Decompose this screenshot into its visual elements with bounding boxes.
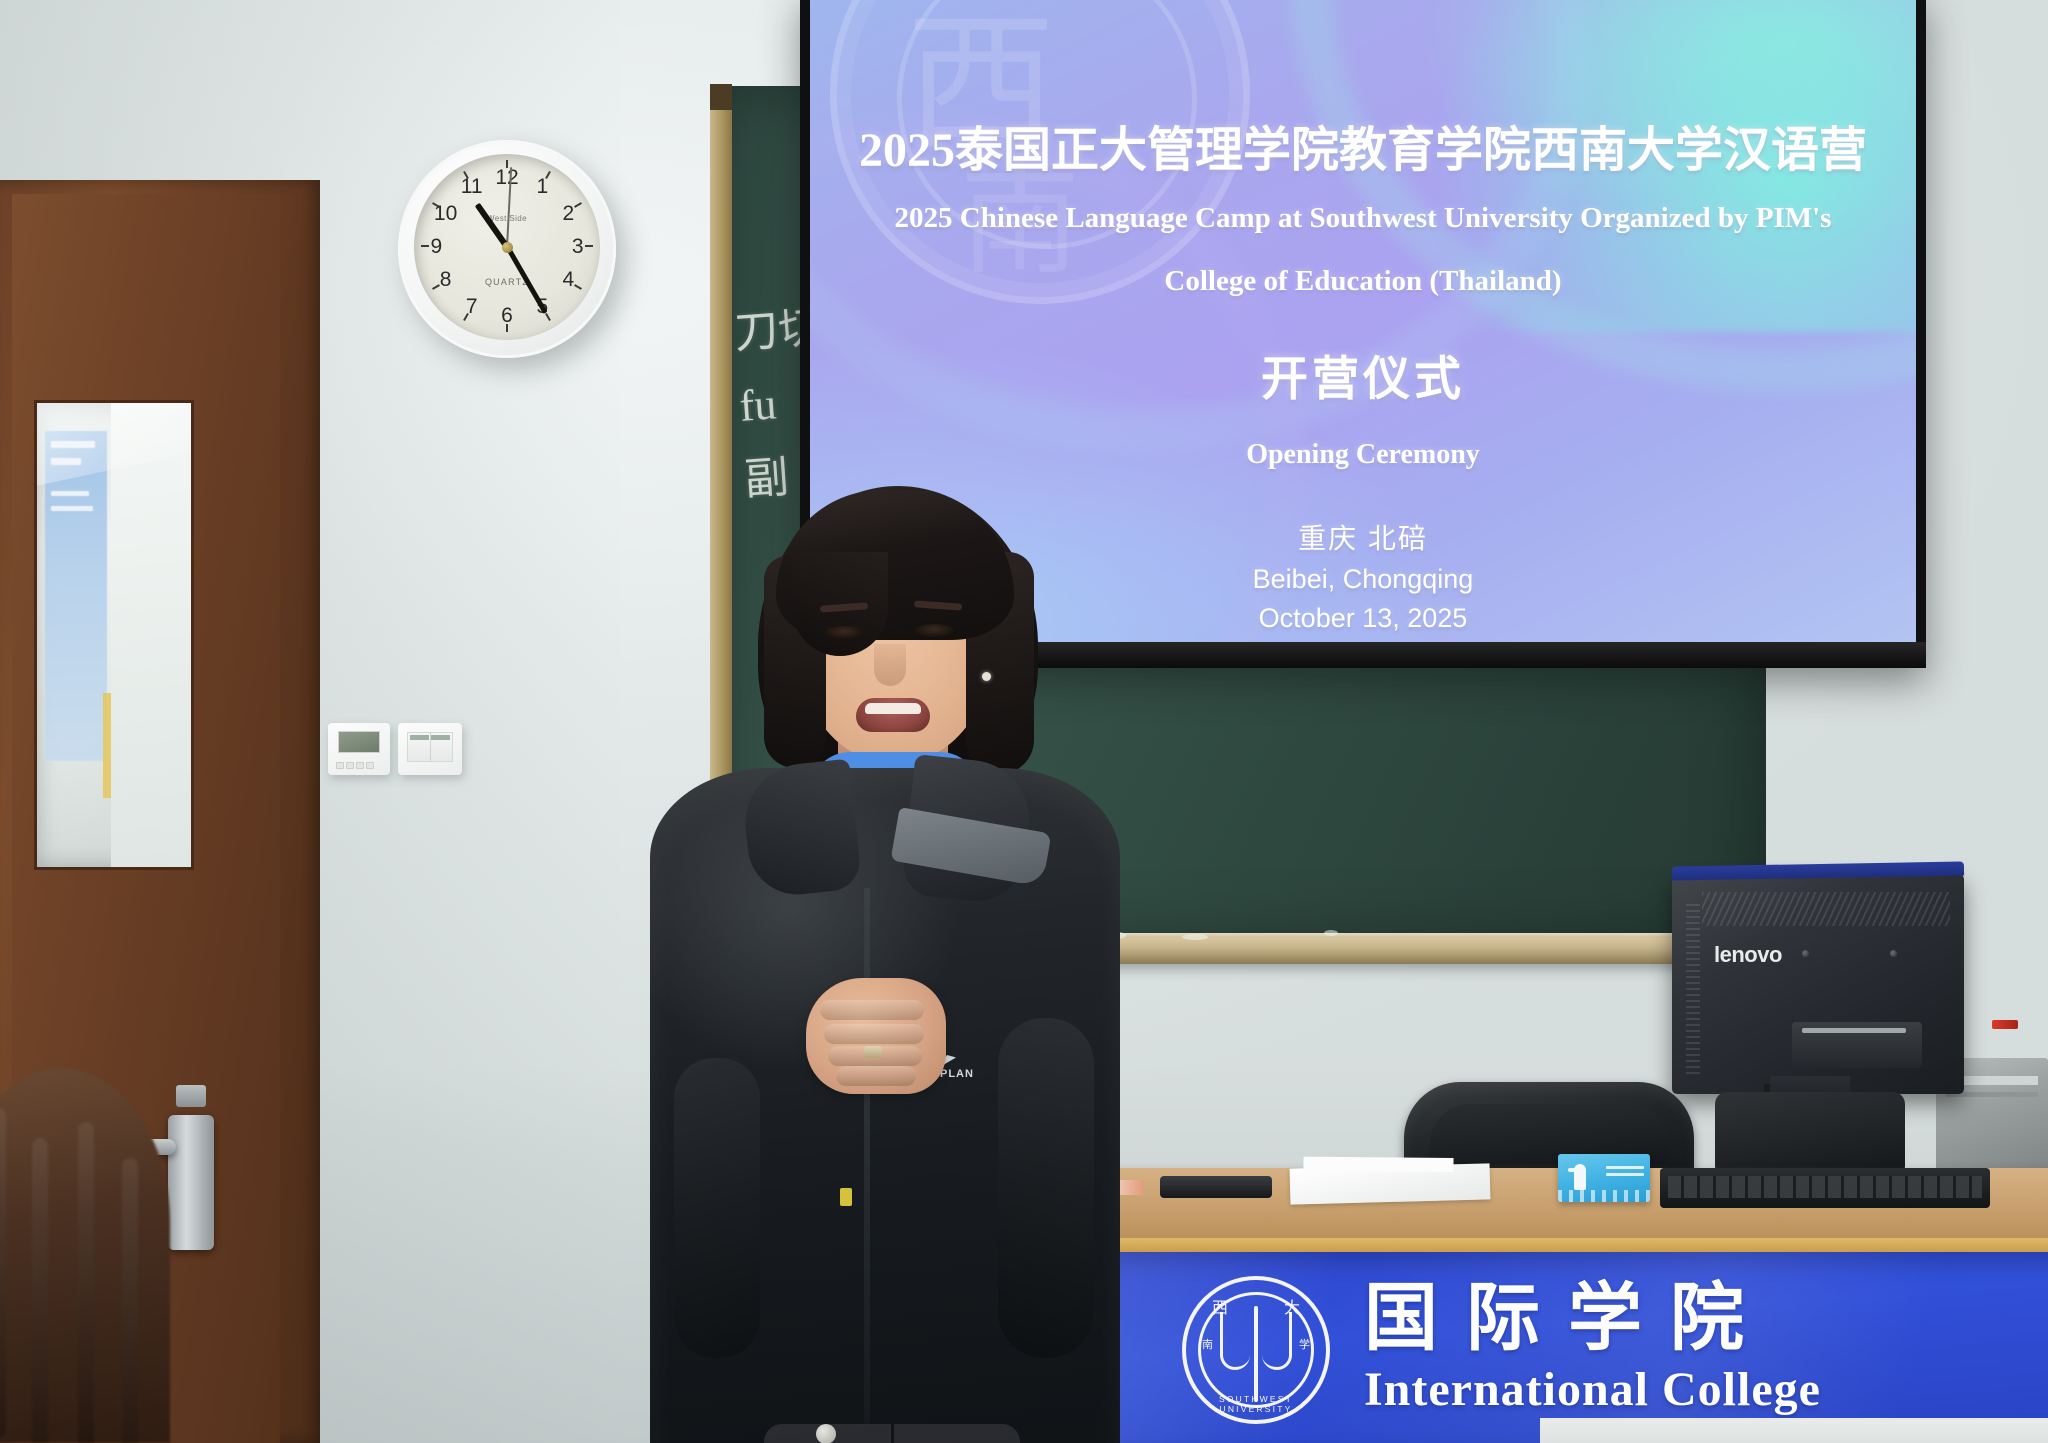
light-switch-panel[interactable] xyxy=(398,723,462,775)
seal-mark-3: 南 xyxy=(1202,1336,1213,1352)
clock-center-pin xyxy=(502,242,513,253)
keyboard-keys[interactable] xyxy=(1668,1176,1982,1198)
classroom-scene: 12 1 2 3 4 5 6 7 8 9 10 11 West Side QUA… xyxy=(0,0,2048,1443)
eye-left xyxy=(824,626,864,639)
door-handle[interactable] xyxy=(168,1115,214,1250)
door-glass-pane xyxy=(34,400,194,870)
computer-monitor: lenovo xyxy=(1672,874,1964,1094)
clasped-hands xyxy=(806,978,946,1094)
monitor-stand-plate xyxy=(1792,1022,1922,1068)
clock-numeral-10: 10 xyxy=(433,204,459,224)
keyboard[interactable] xyxy=(1660,1168,1990,1208)
seal-mark-4: 学 xyxy=(1299,1336,1310,1352)
monitor-screw xyxy=(1890,950,1897,957)
slide-subtitle-english-line1: 2025 Chinese Language Camp at Southwest … xyxy=(844,202,1882,235)
dark-trousers xyxy=(764,1424,1020,1443)
podium-front-shelf xyxy=(1540,1418,2048,1443)
clock-numeral-1: 1 xyxy=(529,177,555,197)
clock-numeral-8: 8 xyxy=(433,270,459,290)
clock-numeral-4: 4 xyxy=(555,270,581,290)
slide-subtitle-english-line2: College of Education (Thailand) xyxy=(844,265,1882,298)
switch-divider xyxy=(430,732,431,762)
monitor-screw xyxy=(1802,950,1809,957)
clock-numeral-3: 3 xyxy=(565,237,591,257)
slide-title-chinese: 2025泰国正大管理学院教育学院西南大学汉语营 xyxy=(844,110,1882,180)
jacket-fold xyxy=(674,1058,760,1358)
glass-reflection-wall xyxy=(111,403,191,867)
clock-numeral-7: 7 xyxy=(459,297,485,317)
seal-arc-text: SOUTHWEST UNIVERSITY xyxy=(1186,1394,1326,1414)
clock-numeral-11: 11 xyxy=(459,177,485,197)
chalk-dust xyxy=(1182,934,1208,940)
slide-section-english: Opening Ceremony xyxy=(844,439,1882,471)
door-lock-plate xyxy=(176,1085,206,1107)
wall-clock: 12 1 2 3 4 5 6 7 8 9 10 11 West Side QUA… xyxy=(398,140,616,358)
hair-fringe xyxy=(776,490,1014,640)
trouser-button xyxy=(816,1424,836,1443)
monitor-vent-top xyxy=(1702,892,1950,926)
jacket-zipper xyxy=(864,888,870,1443)
eye-right xyxy=(914,624,954,637)
black-jacket: PLAN xyxy=(650,768,1120,1443)
trouser-seam xyxy=(891,1424,894,1443)
slide-section-chinese: 开营仪式 xyxy=(844,340,1882,409)
remote-control[interactable] xyxy=(1160,1176,1272,1198)
foreground-audience-head xyxy=(0,1068,170,1443)
nose xyxy=(874,644,906,686)
thermostat-display xyxy=(338,731,380,753)
tissue-box xyxy=(1558,1154,1650,1202)
speaker: PLAN xyxy=(660,486,1130,1443)
documents-on-desk[interactable] xyxy=(1290,1163,1491,1204)
seal-mark-2: 大 xyxy=(1284,1294,1300,1318)
podium-banner-chinese: 国际学院 xyxy=(1364,1282,2048,1356)
jacket-fold xyxy=(998,1018,1094,1358)
monitor-vent-side xyxy=(1686,904,1700,1074)
office-chair-secondary xyxy=(1715,1092,1905,1178)
clock-numeral-6: 6 xyxy=(494,306,520,326)
podium-banner-english: International College xyxy=(1364,1362,2048,1417)
university-seal: 西 大 南 学 SOUTHWEST UNIVERSITY xyxy=(1182,1276,1330,1424)
clock-numeral-12: 12 xyxy=(494,168,520,188)
podium: 西 大 南 学 SOUTHWEST UNIVERSITY 国际学院 Intern… xyxy=(1040,1168,2048,1443)
jacket-collar-left xyxy=(740,759,863,900)
tissue-box-figure-graphic xyxy=(1574,1164,1586,1190)
tissue-box-text-graphic xyxy=(1606,1166,1644,1180)
jacket-brand-logo: PLAN xyxy=(940,1068,974,1080)
chalk-dust xyxy=(1324,930,1338,936)
glass-reflection-accent xyxy=(103,693,111,798)
clock-numeral-9: 9 xyxy=(423,237,449,257)
podium-banner: 西 大 南 学 SOUTHWEST UNIVERSITY 国际学院 Intern… xyxy=(1022,1252,2048,1443)
monitor-brand-logo: lenovo xyxy=(1714,942,1782,968)
seal-mark-1: 西 xyxy=(1212,1294,1228,1318)
clock-numeral-2: 2 xyxy=(555,204,581,224)
thermostat-panel[interactable] xyxy=(328,723,390,775)
earring xyxy=(982,672,991,681)
finger-ring xyxy=(864,1046,882,1058)
equipment-indicator-light xyxy=(1992,1020,2018,1029)
thermostat-buttons[interactable] xyxy=(336,762,374,769)
tissue-box-skyline-graphic xyxy=(1558,1190,1650,1202)
mouth xyxy=(856,698,930,732)
clock-face: 12 1 2 3 4 5 6 7 8 9 10 11 West Side QUA… xyxy=(414,154,600,340)
jacket-yellow-tab xyxy=(840,1188,852,1206)
